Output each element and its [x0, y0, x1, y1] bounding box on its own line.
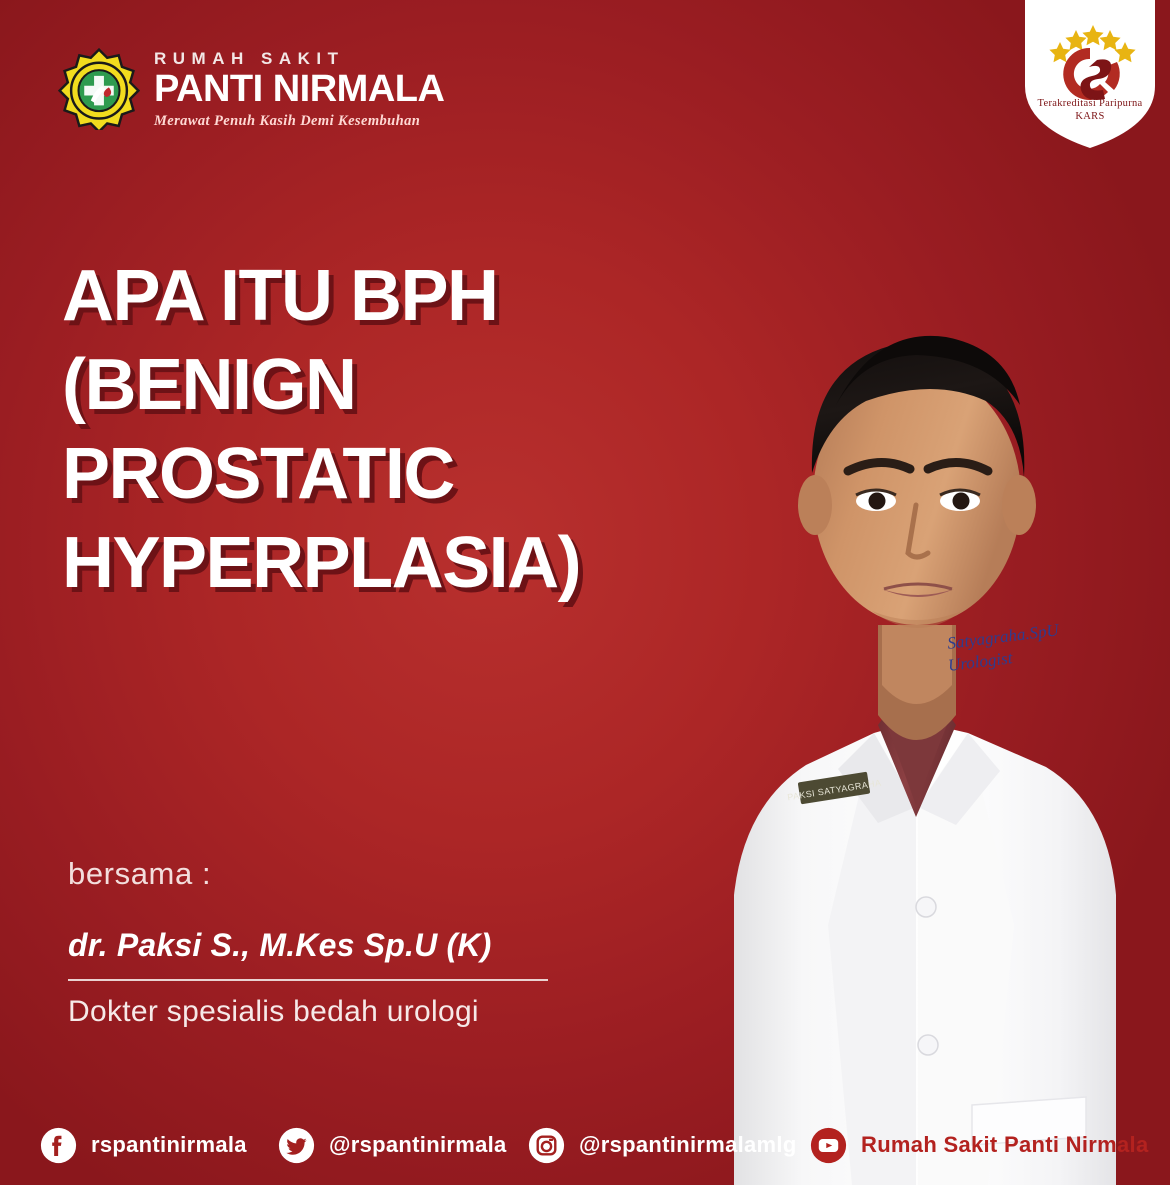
facebook-icon[interactable] [40, 1127, 77, 1164]
svg-text:Urologist: Urologist [947, 648, 1015, 675]
svg-text:Satyagraha.SpU: Satyagraha.SpU [946, 620, 1061, 653]
social-footer-bar: rspantinirmala @rspantinirmala @rspantin… [0, 1105, 1170, 1185]
coat-embroidery: Satyagraha.SpU Urologist [944, 620, 1064, 675]
logo-line-panti-nirmala: PANTI NIRMALA [154, 69, 444, 109]
social-item-youtube[interactable]: Rumah Sakit Panti Nirmala [810, 1127, 1148, 1164]
hospital-logo-block: RUMAH SAKIT PANTI NIRMALA Merawat Penuh … [58, 48, 444, 130]
speaker-block: bersama : dr. Paksi S., M.Kes Sp.U (K) D… [68, 855, 568, 1030]
twitter-handle[interactable]: @rspantinirmala [329, 1132, 507, 1158]
facebook-handle[interactable]: rspantinirmala [91, 1132, 247, 1158]
instagram-handle[interactable]: @rspantinirmalamlg [579, 1132, 797, 1158]
kars-line1: Terakreditasi Paripurna [1038, 98, 1143, 109]
social-item-instagram[interactable]: @rspantinirmalamlg [528, 1127, 797, 1164]
speaker-intro-label: bersama : [68, 855, 568, 892]
kars-accreditation-shield-icon: Terakreditasi Paripurna KARS [1025, 0, 1155, 150]
speaker-divider [68, 979, 548, 981]
panti-nirmala-seal-logo [58, 48, 140, 130]
social-item-twitter[interactable]: @rspantinirmala [278, 1127, 507, 1164]
instagram-icon[interactable] [528, 1127, 565, 1164]
social-item-facebook[interactable]: rspantinirmala [40, 1127, 247, 1164]
speaker-name: dr. Paksi S., M.Kes Sp.U (K) [68, 926, 568, 964]
headline-line-3: PROSTATIC [62, 430, 702, 519]
twitter-icon[interactable] [278, 1127, 315, 1164]
headline-line-4: HYPERPLASIA) [62, 519, 702, 608]
kars-line2: KARS [1075, 111, 1104, 122]
youtube-handle[interactable]: Rumah Sakit Panti Nirmala [861, 1132, 1148, 1158]
headline-block: APA ITU BPH (BENIGN PROSTATIC HYPERPLASI… [62, 252, 702, 608]
logo-line-rumah-sakit: RUMAH SAKIT [154, 50, 444, 67]
youtube-icon[interactable] [810, 1127, 847, 1164]
logo-tagline: Merawat Penuh Kasih Demi Kesembuhan [154, 113, 444, 130]
poster-canvas: PAKSI SATYAGRAHA Satyagraha.SpU Urologis… [0, 0, 1170, 1185]
headline-line-2: (BENIGN [62, 341, 702, 430]
headline-line-1: APA ITU BPH [62, 252, 702, 341]
speaker-specialty: Dokter spesialis bedah urologi [68, 994, 568, 1030]
